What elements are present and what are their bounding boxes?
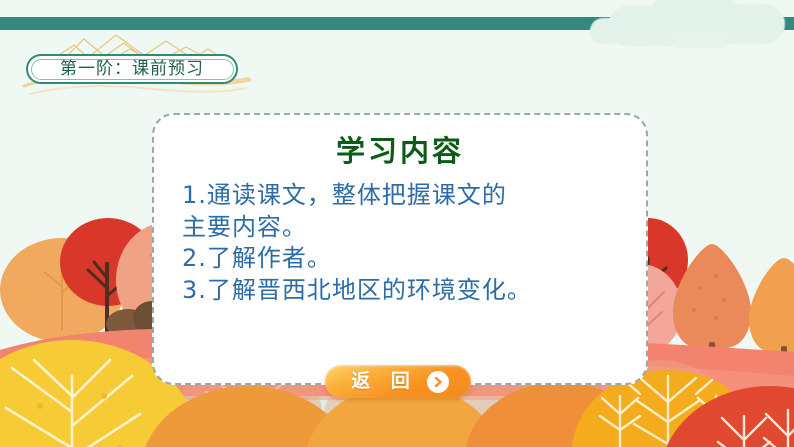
list-item-number: 2. bbox=[182, 244, 207, 272]
slide-root: 第一阶：课前预习 学习内容 1.通读课文，整体把握课文的 主要内容。 2.了解作… bbox=[0, 0, 794, 447]
learning-objectives-list: 1.通读课文，整体把握课文的 主要内容。 2.了解作者。 3.了解晋西北地区的环… bbox=[154, 180, 646, 307]
list-item: 3.了解晋西北地区的环境变化。 bbox=[182, 275, 628, 307]
chevron-right-icon bbox=[427, 371, 449, 393]
return-button-label: 返 回 bbox=[345, 372, 417, 391]
stage-badge: 第一阶：课前预习 bbox=[26, 54, 238, 84]
list-item-text: 了解作者。 bbox=[207, 244, 332, 272]
learning-content-card: 学习内容 1.通读课文，整体把握课文的 主要内容。 2.了解作者。 3.了解晋西… bbox=[152, 113, 648, 385]
cloud-decoration-small bbox=[670, 32, 730, 48]
list-item: 1.通读课文，整体把握课文的 主要内容。 bbox=[182, 180, 628, 243]
list-item-text: 了解晋西北地区的环境变化。 bbox=[207, 276, 532, 304]
list-item-text: 通读课文，整体把握课文的 主要内容。 bbox=[182, 181, 507, 241]
list-item-number: 3. bbox=[182, 276, 207, 304]
list-item-number: 1. bbox=[182, 181, 207, 209]
list-item: 2.了解作者。 bbox=[182, 243, 628, 275]
return-button[interactable]: 返 回 bbox=[325, 365, 471, 398]
stage-badge-label: 第一阶：课前预习 bbox=[60, 61, 204, 78]
card-title: 学习内容 bbox=[154, 137, 646, 166]
